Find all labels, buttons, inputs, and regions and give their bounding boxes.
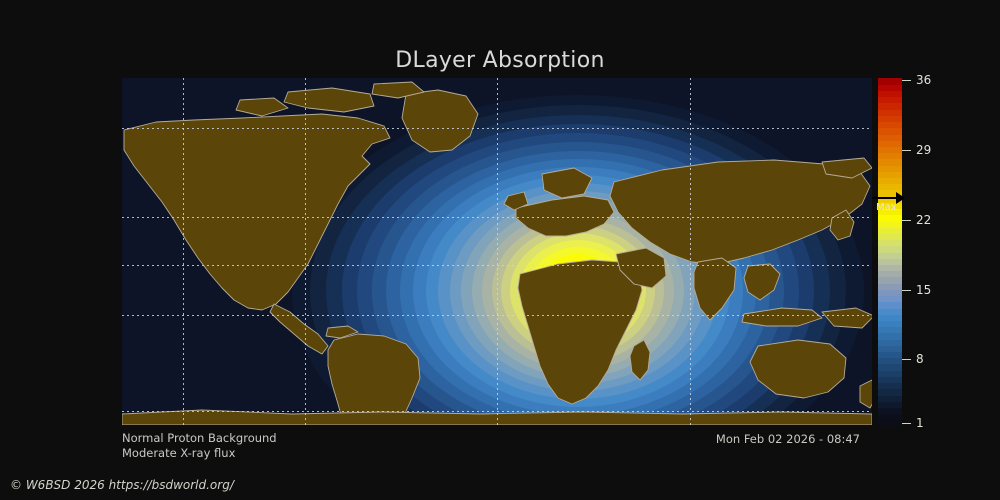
colorbar-segment [878,215,902,222]
colorbar-segment [878,159,902,166]
colorbar-tick-label: 8 [916,352,924,366]
world-map[interactable] [122,78,872,425]
colorbar-tick-label: 1 [916,416,924,430]
colorbar-segment [878,271,902,278]
app-root: DLayer Absorption [0,0,1000,500]
colorbar-segment [878,240,902,247]
colorbar-segment [878,327,902,334]
colorbar-segment [878,115,902,122]
timestamp: Mon Feb 02 2026 - 08:47 [716,432,860,446]
colorbar-segment [878,252,902,259]
colorbar-segment [878,90,902,97]
colorbar-segment [878,171,902,178]
colorbar-gradient[interactable]: Max [878,78,902,426]
colorbar-segment [878,97,902,104]
status-proton-background: Normal Proton Background [122,431,277,445]
colorbar-segment [878,302,902,309]
colorbar-segment [878,103,902,110]
colorbar-segment [878,395,902,402]
colorbar-segment [878,345,902,352]
colorbar-tick-mark [902,290,911,291]
gridline-longitude [497,78,498,425]
colorbar-segment [878,320,902,327]
colorbar-segment [878,339,902,346]
colorbar-segment [878,165,902,172]
colorbar-segment [878,128,902,135]
colorbar-segment [878,221,902,228]
colorbar-segment [878,153,902,160]
colorbar-segment [878,184,902,191]
colorbar-segment [878,420,902,427]
colorbar-segment [878,258,902,265]
gridline-longitude [183,78,184,425]
colorbar-segment [878,407,902,414]
colorbar-tick-label: 22 [916,213,931,227]
colorbar-segment [878,308,902,315]
colorbar-segment [878,333,902,340]
max-arrow-shaft [872,197,898,199]
colorbar-tick-mark [902,150,911,151]
colorbar-segment [878,134,902,141]
colorbar-segment [878,109,902,116]
colorbar-tick-label: 15 [916,283,931,297]
colorbar-tick-mark [902,80,911,81]
colorbar-segment [878,140,902,147]
colorbar-segment [878,414,902,421]
colorbar-axis-label: Affected Frequency (MHz) [930,78,1000,426]
colorbar-segment [878,78,902,85]
colorbar-segment [878,376,902,383]
colorbar-segment [878,358,902,365]
colorbar-segment [878,246,902,253]
colorbar-segment [878,146,902,153]
colorbar-segment [878,264,902,271]
colorbar-tick-label: 29 [916,143,931,157]
status-xray-flux: Moderate X-ray flux [122,446,235,460]
colorbar-segment [878,389,902,396]
colorbar-segment [878,233,902,240]
colorbar-segment [878,277,902,284]
colorbar-segment [878,370,902,377]
colorbar-segment [878,289,902,296]
page-title: DLayer Absorption [0,48,1000,73]
colorbar-tick-mark [902,220,911,221]
colorbar-max-label: Max [876,202,897,213]
colorbar-tick-label: 36 [916,73,931,87]
gridline-longitude [305,78,306,425]
copyright-notice: © W6BSD 2026 https://bsdworld.org/ [10,478,234,492]
colorbar-segment [878,227,902,234]
colorbar-segment [878,177,902,184]
colorbar-segment [878,283,902,290]
colorbar-segment [878,122,902,129]
colorbar-segment [878,314,902,321]
colorbar-tick-mark [902,359,911,360]
colorbar-segment [878,84,902,91]
colorbar-segment [878,364,902,371]
colorbar-segment [878,351,902,358]
colorbar-tick-mark [902,423,911,424]
gridline-longitude [690,78,691,425]
colorbar-segment [878,401,902,408]
colorbar-segment [878,296,902,303]
map-gridlines [122,78,872,425]
colorbar-segment [878,383,902,390]
